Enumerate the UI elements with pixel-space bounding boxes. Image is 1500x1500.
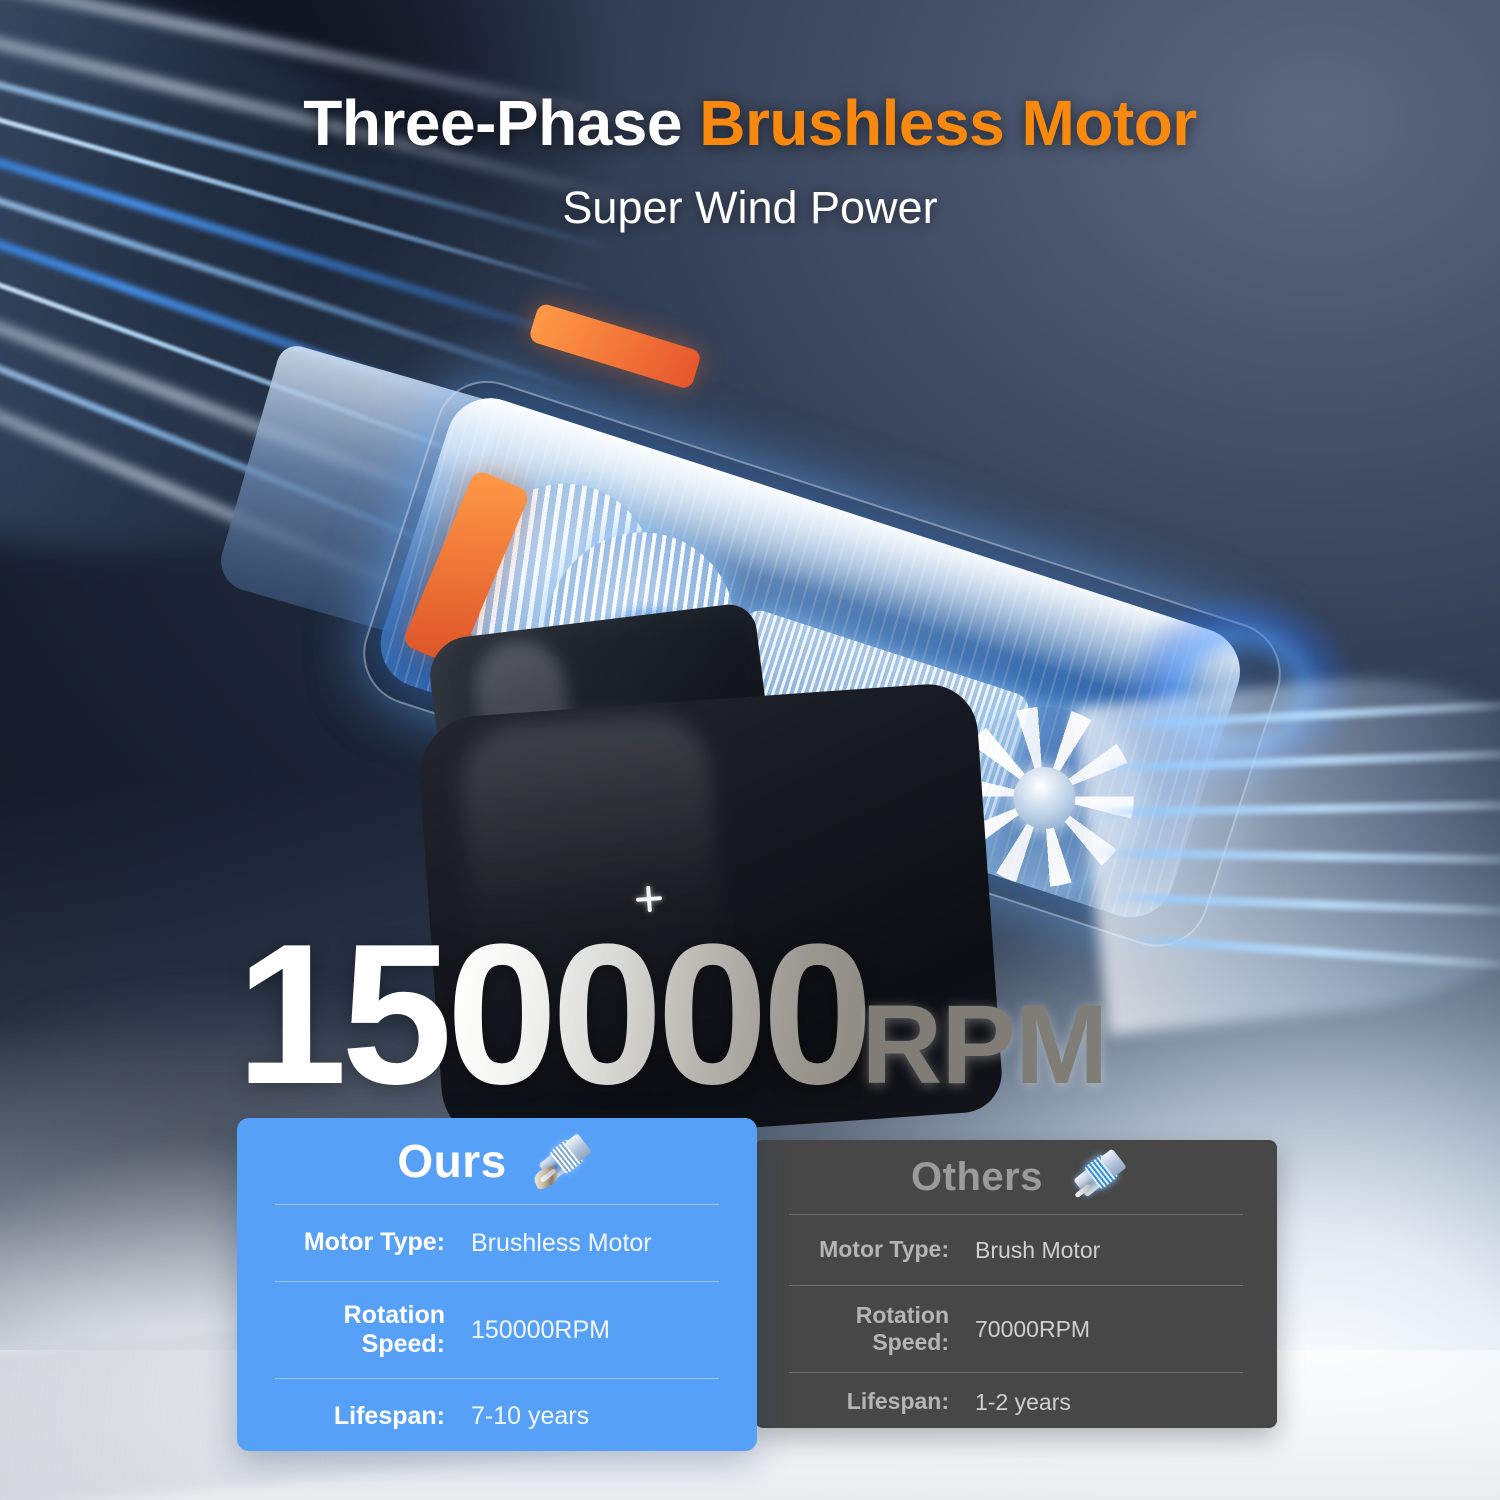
ours-spec-rows: Motor Type: Brushless Motor Rotation Spe…: [237, 1204, 757, 1454]
ours-card-title: Ours: [397, 1134, 506, 1188]
spec-label-line1: Rotation: [344, 1301, 445, 1329]
spec-label-line1: Rotation: [856, 1302, 949, 1328]
others-card-header: Others: [755, 1140, 1277, 1214]
brushless-motor-icon: [525, 1130, 597, 1192]
spec-label: Lifespan:: [275, 1402, 471, 1432]
table-row: Rotation Speed: 150000RPM: [275, 1281, 719, 1378]
table-row: Motor Type: Brushless Motor: [275, 1204, 719, 1281]
spec-label-line2: Speed:: [872, 1329, 949, 1355]
rpm-value: 150000: [236, 915, 867, 1115]
title-part-one: Three-Phase: [303, 87, 699, 159]
spec-label-line2: Speed:: [362, 1330, 445, 1358]
product-infographic: Three-Phase Brushless Motor Super Wind P…: [0, 0, 1500, 1500]
table-row: Motor Type: Brush Motor: [789, 1214, 1243, 1285]
table-row: Lifespan: 7-10 years: [275, 1378, 719, 1454]
spec-label: Lifespan:: [789, 1388, 975, 1415]
page-title: Three-Phase Brushless Motor: [0, 86, 1500, 160]
page-subtitle: Super Wind Power: [0, 182, 1500, 234]
others-spec-rows: Motor Type: Brush Motor Rotation Speed: …: [755, 1214, 1277, 1431]
ours-card-header: Ours: [237, 1118, 757, 1204]
spec-value: Brushless Motor: [471, 1229, 652, 1258]
spec-value: 150000RPM: [471, 1316, 610, 1345]
table-row: Lifespan: 1-2 years: [789, 1372, 1243, 1431]
rpm-headline: 150000 RPM: [236, 915, 1346, 1105]
others-card-title: Others: [911, 1155, 1043, 1200]
accent-tab-top: [528, 302, 702, 390]
spec-label: Motor Type:: [275, 1228, 471, 1258]
comparison-card-ours: Ours Motor Type: Brushless Motor Rotatio…: [237, 1118, 757, 1451]
title-accent: Brushless Motor: [699, 87, 1196, 159]
comparison-card-others: Others Motor Type: Brush Motor Rotation …: [755, 1140, 1277, 1428]
brush-motor-icon: [1059, 1149, 1121, 1205]
spec-value: 70000RPM: [975, 1316, 1090, 1343]
rpm-unit-label: RPM: [861, 989, 1107, 1101]
spec-value: 7-10 years: [471, 1402, 589, 1431]
spec-label: Rotation Speed:: [789, 1302, 975, 1356]
table-row: Rotation Speed: 70000RPM: [789, 1285, 1243, 1372]
spec-label: Rotation Speed:: [275, 1301, 471, 1360]
spec-value: 1-2 years: [975, 1389, 1071, 1416]
spec-label: Motor Type:: [789, 1236, 975, 1263]
spec-value: Brush Motor: [975, 1237, 1100, 1264]
